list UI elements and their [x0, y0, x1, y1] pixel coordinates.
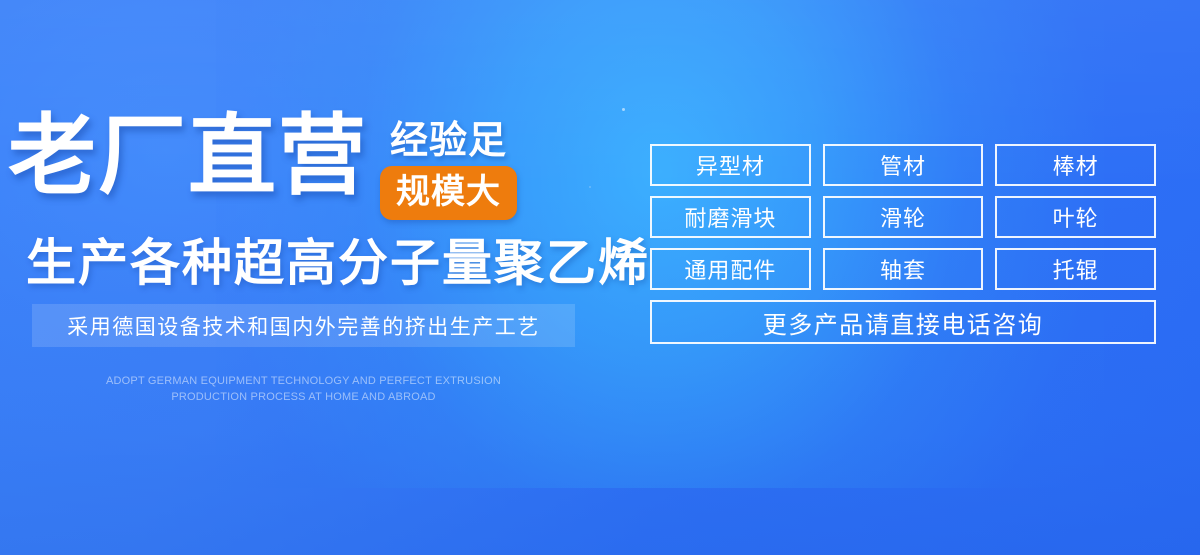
product-cell-general-parts[interactable]: 通用配件	[650, 248, 811, 290]
product-label: 耐磨滑块	[684, 201, 776, 233]
contact-cta-label: 更多产品请直接电话咨询	[763, 305, 1044, 340]
product-row: 耐磨滑块 滑轮 叶轮	[650, 196, 1156, 238]
product-cell-rod[interactable]: 棒材	[995, 144, 1156, 186]
background-speck	[622, 108, 625, 111]
product-cell-profile[interactable]: 异型材	[650, 144, 811, 186]
headline-main: 老厂直营	[8, 112, 368, 200]
product-label: 棒材	[1053, 149, 1099, 181]
product-cell-idler-roller[interactable]: 托辊	[995, 248, 1156, 290]
headline-subtitle: 生产各种超高分子量聚乙烯	[26, 238, 650, 288]
badge-stack: 经验足 规模大	[380, 122, 517, 220]
english-tagline-line-1: ADOPT GERMAN EQUIPMENT TECHNOLOGY AND PE…	[32, 373, 575, 389]
english-tagline: ADOPT GERMAN EQUIPMENT TECHNOLOGY AND PE…	[32, 373, 575, 405]
product-label: 滑轮	[880, 201, 926, 233]
product-label: 管材	[880, 149, 926, 181]
badge-scale-pill: 规模大	[380, 166, 517, 220]
product-cell-impeller[interactable]: 叶轮	[995, 196, 1156, 238]
product-cell-pulley[interactable]: 滑轮	[823, 196, 984, 238]
product-label: 托辊	[1053, 253, 1099, 285]
tagline-text: 采用德国设备技术和国内外完善的挤出生产工艺	[67, 311, 540, 341]
product-cell-bushing[interactable]: 轴套	[823, 248, 984, 290]
product-label: 叶轮	[1053, 201, 1099, 233]
product-row: 通用配件 轴套 托辊	[650, 248, 1156, 290]
badge-experience: 经验足	[390, 122, 507, 162]
product-label: 异型材	[696, 149, 765, 181]
headline-row: 老厂直营 经验足 规模大	[8, 112, 517, 220]
english-tagline-line-2: PRODUCTION PROCESS AT HOME AND ABROAD	[32, 389, 575, 405]
product-cell-pipe[interactable]: 管材	[823, 144, 984, 186]
cta-row: 更多产品请直接电话咨询	[650, 300, 1156, 344]
product-cell-wear-slider[interactable]: 耐磨滑块	[650, 196, 811, 238]
tagline-bar: 采用德国设备技术和国内外完善的挤出生产工艺	[32, 304, 575, 347]
product-grid: 异型材 管材 棒材 耐磨滑块 滑轮 叶轮 通用配件	[650, 144, 1156, 344]
contact-cta-button[interactable]: 更多产品请直接电话咨询	[650, 300, 1156, 344]
promo-banner: 老厂直营 经验足 规模大 生产各种超高分子量聚乙烯 采用德国设备技术和国内外完善…	[0, 0, 1200, 555]
product-row: 异型材 管材 棒材	[650, 144, 1156, 186]
product-label: 轴套	[880, 253, 926, 285]
headline-block: 老厂直营 经验足 规模大 生产各种超高分子量聚乙烯 采用德国设备技术和国内外完善…	[0, 0, 620, 555]
product-label: 通用配件	[684, 253, 776, 285]
